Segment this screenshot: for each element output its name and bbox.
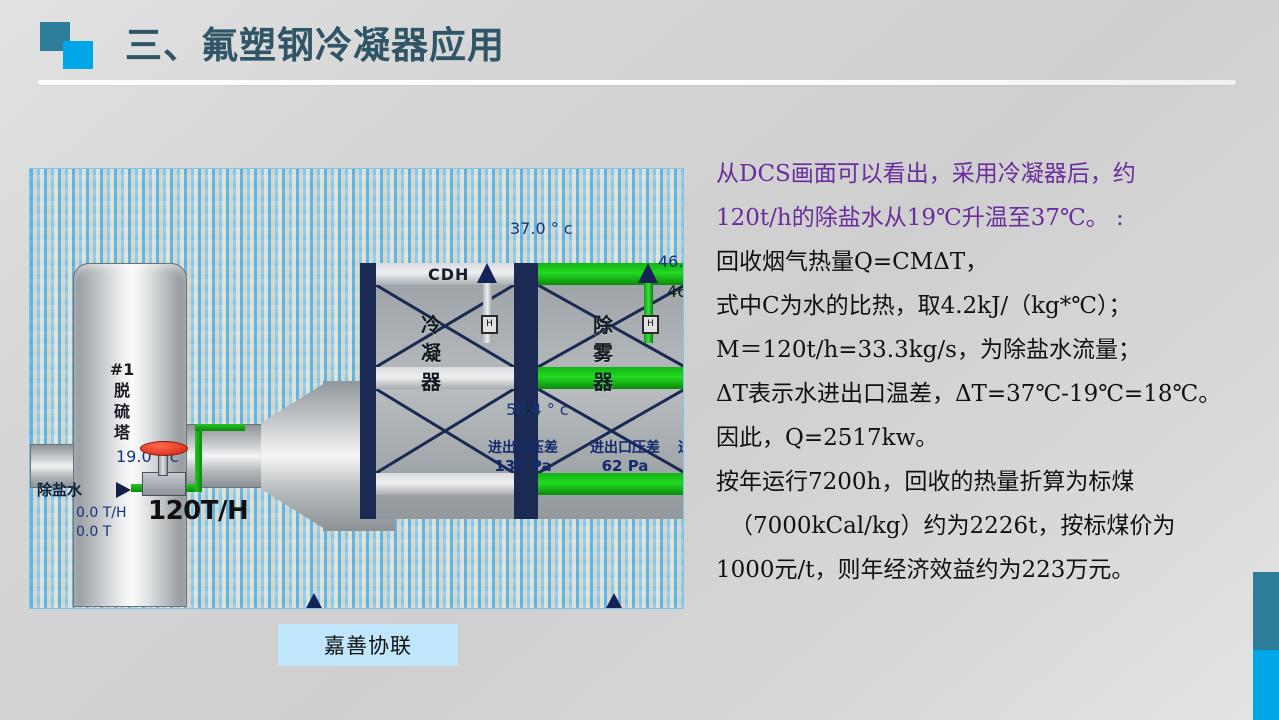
flow-rate-value: 0.0 T/H bbox=[76, 505, 127, 521]
condenser-label: 冷 凝 器 bbox=[416, 311, 446, 396]
body-text-block: 从DCS画面可以看出，采用冷凝器后，约120t/h的除盐水从19℃升温至37℃。… bbox=[716, 152, 1256, 592]
body-line: 从DCS画面可以看出，采用冷凝器后，约 bbox=[716, 152, 1256, 196]
pressure-1-title: 进出口压差 bbox=[488, 437, 558, 457]
temp-condenser-outlet: 37.0 ° c bbox=[510, 219, 573, 238]
temp-condenser-bottom: 50.4 ° c bbox=[506, 400, 569, 419]
title-decoration-square-bright bbox=[63, 41, 93, 69]
pressure-3-title: 进 bbox=[678, 437, 684, 457]
control-valve-actuator bbox=[140, 441, 188, 456]
body-line: M＝120t/h=33.3kg/s，为除盐水流量； bbox=[716, 328, 1256, 372]
body-line: ΔT表示水进出口温差，ΔT=37℃-19℃=18℃。 bbox=[716, 372, 1256, 416]
demister-band-bottom bbox=[538, 473, 684, 495]
condenser-band-bottom bbox=[376, 473, 514, 495]
water-pipe-riser bbox=[195, 424, 202, 492]
water-inlet-label: 除盐水 bbox=[37, 479, 82, 500]
bottom-arrow-icon-1 bbox=[305, 593, 323, 609]
flow-display: 120T/H bbox=[148, 496, 248, 526]
condenser-h-marker-icon: H bbox=[481, 315, 498, 334]
demister-flow-arrow-icon bbox=[638, 263, 658, 283]
pressure-1-value: 131 Pa bbox=[488, 457, 558, 475]
pressure-2-title: 进出口压差 bbox=[590, 437, 660, 457]
water-pipe-top bbox=[195, 424, 245, 431]
body-line: 式中C为水的比热，取4.2kJ/（kg*℃）； bbox=[716, 284, 1256, 328]
accent-bar-dark bbox=[1253, 572, 1279, 650]
demister-h-marker-icon: H bbox=[642, 315, 659, 334]
body-line: 回收烟气热量Q=CMΔT， bbox=[716, 240, 1256, 284]
flow-total-value: 0.0 T bbox=[76, 524, 111, 540]
pressure-2-value: 62 Pa bbox=[590, 457, 660, 475]
temp-demister-green: 46.2 bbox=[667, 282, 684, 301]
equipment-frame-left bbox=[360, 263, 376, 519]
body-line: （7000kCal/kg）约为2226t，按标煤价为 bbox=[716, 504, 1256, 548]
bottom-arrow-icon-2 bbox=[605, 593, 623, 609]
body-line: 因此，Q=2517kw。 bbox=[716, 416, 1256, 460]
body-line: 120t/h的除盐水从19℃升温至37℃。 : bbox=[716, 196, 1256, 240]
title-divider bbox=[38, 80, 1236, 85]
dcs-screenshot-panel: #1 脱 硫 塔 bbox=[29, 168, 684, 609]
demister-label: 除 雾 器 bbox=[588, 311, 618, 396]
pressure-group-1: 进出口压差 131 Pa bbox=[488, 437, 558, 475]
cdh-label: CDH bbox=[428, 265, 469, 284]
temp-demister-outlet: 46.2 ° c bbox=[658, 252, 684, 271]
accent-bar-bright bbox=[1253, 650, 1279, 720]
slide-root: 三、氟塑钢冷凝器应用 #1 脱 硫 塔 bbox=[0, 0, 1279, 720]
water-inlet-arrow-icon bbox=[116, 482, 131, 498]
page-title: 三、氟塑钢冷凝器应用 bbox=[125, 15, 505, 69]
body-line: 1000元/t，则年经济效益约为223万元。 bbox=[716, 548, 1256, 592]
equipment-frame-middle bbox=[514, 263, 538, 519]
condenser-flow-arrow-icon bbox=[477, 263, 497, 283]
tower-label: #1 脱 硫 塔 bbox=[100, 359, 144, 443]
pressure-group-3-clipped: 进 bbox=[678, 437, 684, 457]
image-caption-box: 嘉善协联 bbox=[278, 624, 458, 666]
body-line: 按年运行7200h，回收的热量折算为标煤 bbox=[716, 460, 1256, 504]
condenser-demister-block: CDH 冷 凝 器 除 雾 器 bbox=[360, 263, 684, 519]
image-caption-text: 嘉善协联 bbox=[324, 630, 412, 660]
pressure-group-2: 进出口压差 62 Pa bbox=[590, 437, 660, 475]
